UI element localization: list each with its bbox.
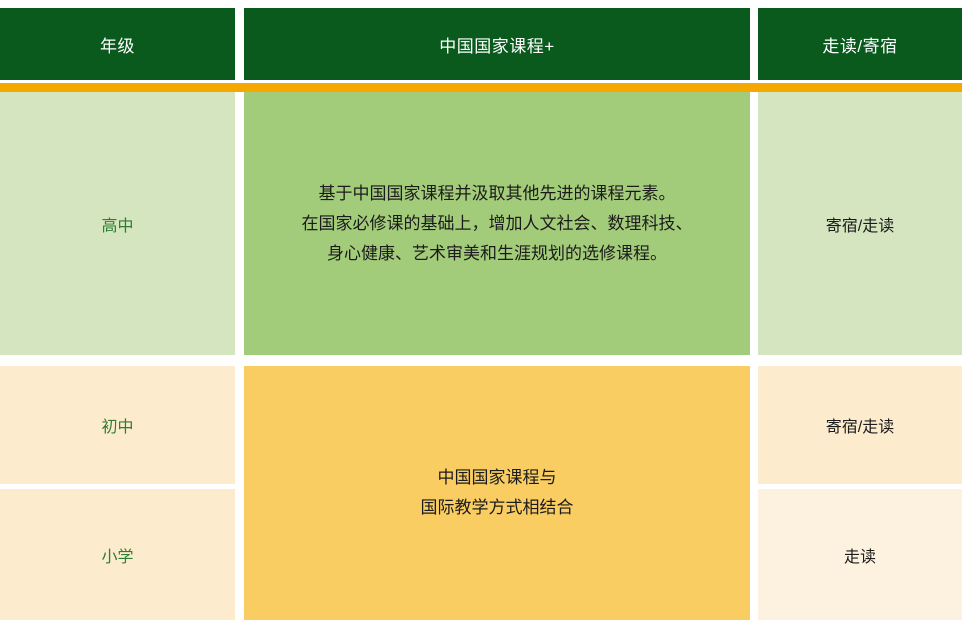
table-header-row: 年级 中国国家课程+ 走读/寄宿 [0, 8, 962, 80]
grade-label-high-school: 高中 [0, 92, 235, 355]
header-divider-bar [0, 83, 962, 92]
program-description-middle-and-primary: 中国国家课程与 国际教学方式相结合 [244, 366, 750, 620]
boarding-value-high-school: 寄宿/走读 [758, 92, 962, 355]
boarding-value-middle-school: 寄宿/走读 [758, 366, 962, 484]
boarding-value-primary-school: 走读 [758, 489, 962, 620]
grade-label-primary-school: 小学 [0, 489, 235, 620]
column-header-program: 中国国家课程+ [244, 8, 750, 80]
curriculum-comparison-table: 年级 中国国家课程+ 走读/寄宿 高中 基于中国国家课程并汲取其他先进的课程元素… [0, 0, 962, 620]
column-header-grade: 年级 [0, 8, 235, 80]
grade-label-middle-school: 初中 [0, 366, 235, 484]
program-description-high-school: 基于中国国家课程并汲取其他先进的课程元素。 在国家必修课的基础上，增加人文社会、… [244, 92, 750, 355]
column-header-boarding: 走读/寄宿 [758, 8, 962, 80]
